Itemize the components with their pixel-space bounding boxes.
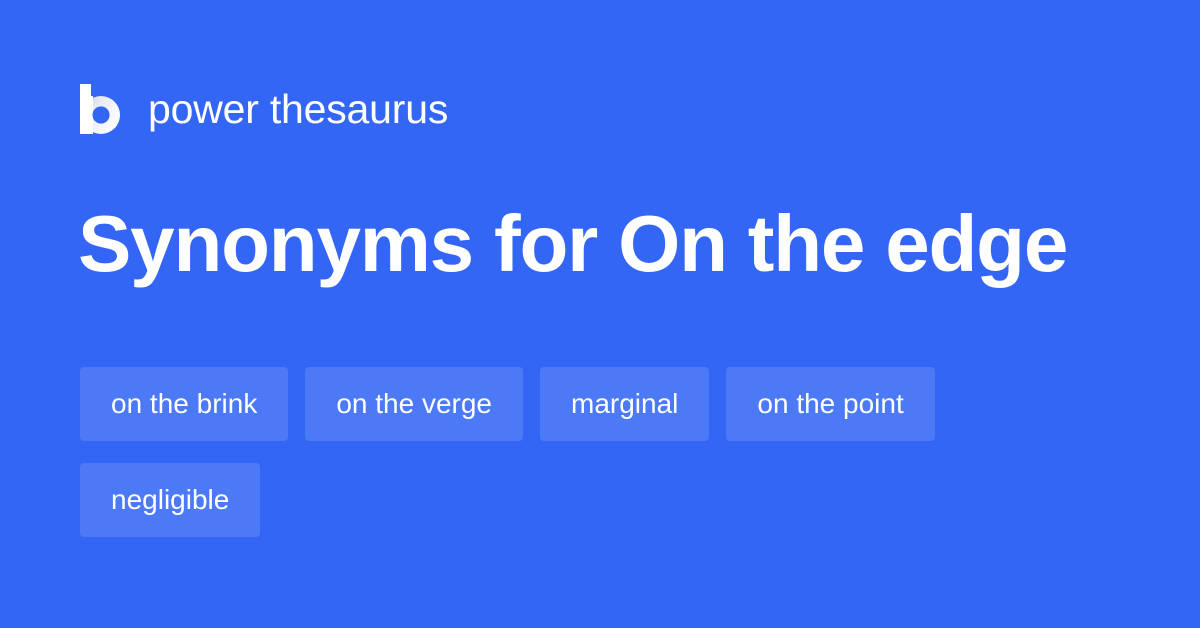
synonym-chip[interactable]: on the brink bbox=[80, 367, 288, 441]
brand-logo[interactable]: power thesaurus bbox=[80, 82, 448, 136]
brand-name: power thesaurus bbox=[148, 89, 448, 130]
synonym-chip[interactable]: on the verge bbox=[305, 367, 523, 441]
synonym-chip-list: on the brink on the verge marginal on th… bbox=[80, 367, 1120, 537]
synonym-chip[interactable]: marginal bbox=[540, 367, 709, 441]
synonym-chip[interactable]: negligible bbox=[80, 463, 260, 537]
synonym-chip[interactable]: on the point bbox=[726, 367, 934, 441]
power-thesaurus-b-logo-icon bbox=[80, 84, 120, 134]
page-title: Synonyms for On the edge bbox=[78, 198, 1067, 290]
